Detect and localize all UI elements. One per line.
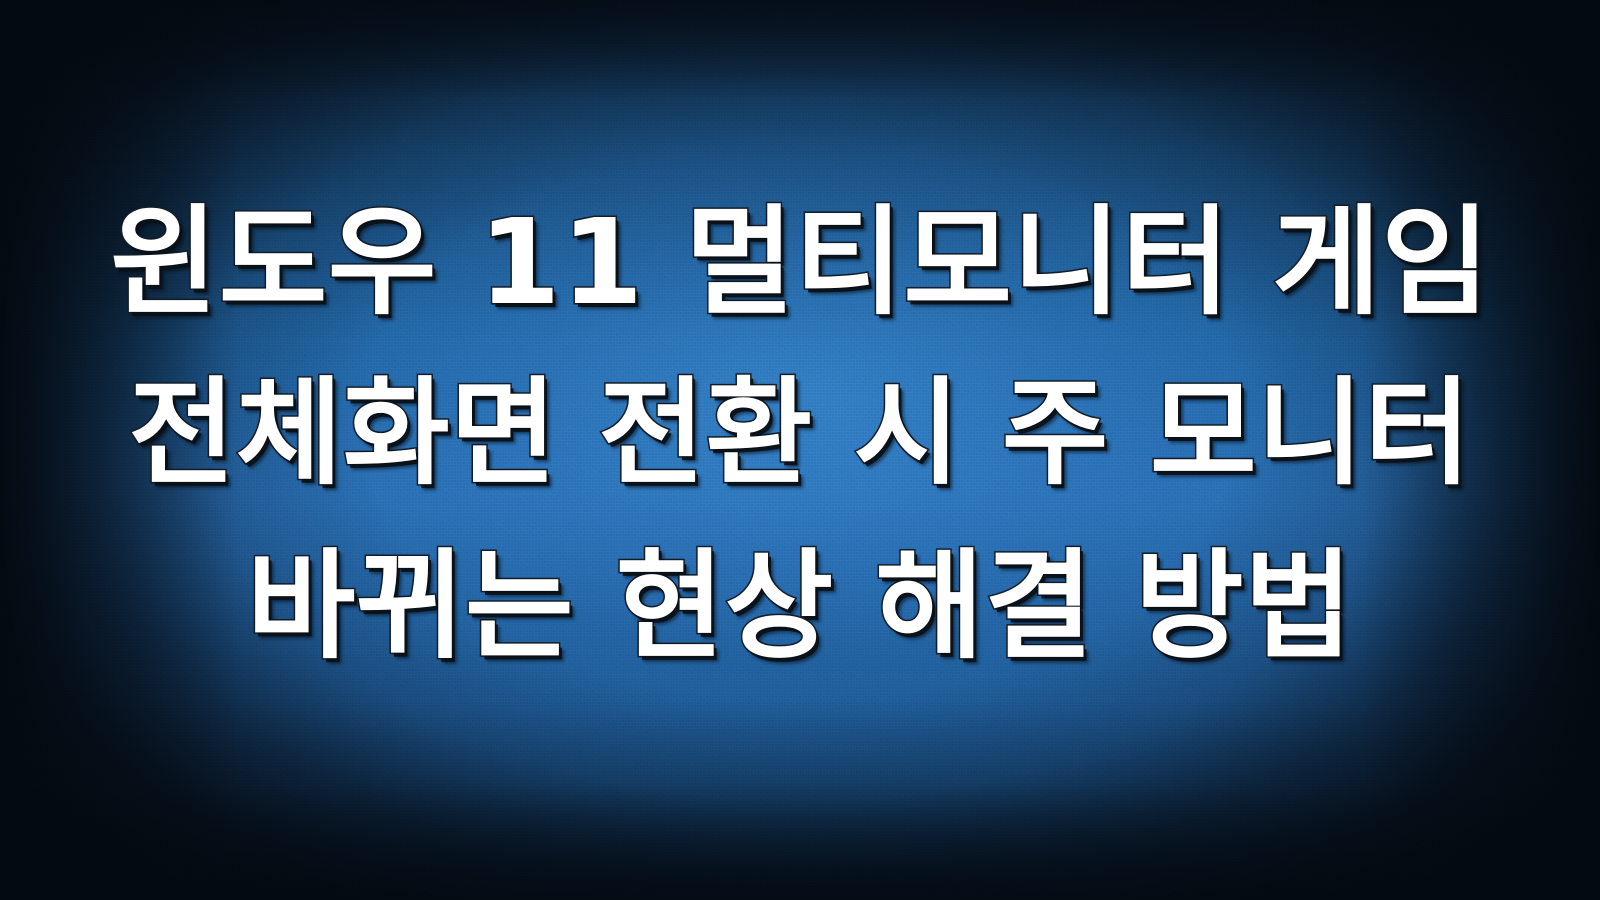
- title-block: 윈도우 11 멀티모니터 게임 전체화면 전환 시 주 모니터 바뀌는 현상 해…: [0, 176, 1600, 692]
- title-line-2: 전체화면 전환 시 주 모니터: [129, 348, 1472, 520]
- thumbnail-canvas: 윈도우 11 멀티모니터 게임 전체화면 전환 시 주 모니터 바뀌는 현상 해…: [0, 0, 1600, 900]
- title-line-1: 윈도우 11 멀티모니터 게임: [110, 176, 1491, 348]
- title-line-3: 바뀌는 현상 해결 방법: [247, 520, 1353, 692]
